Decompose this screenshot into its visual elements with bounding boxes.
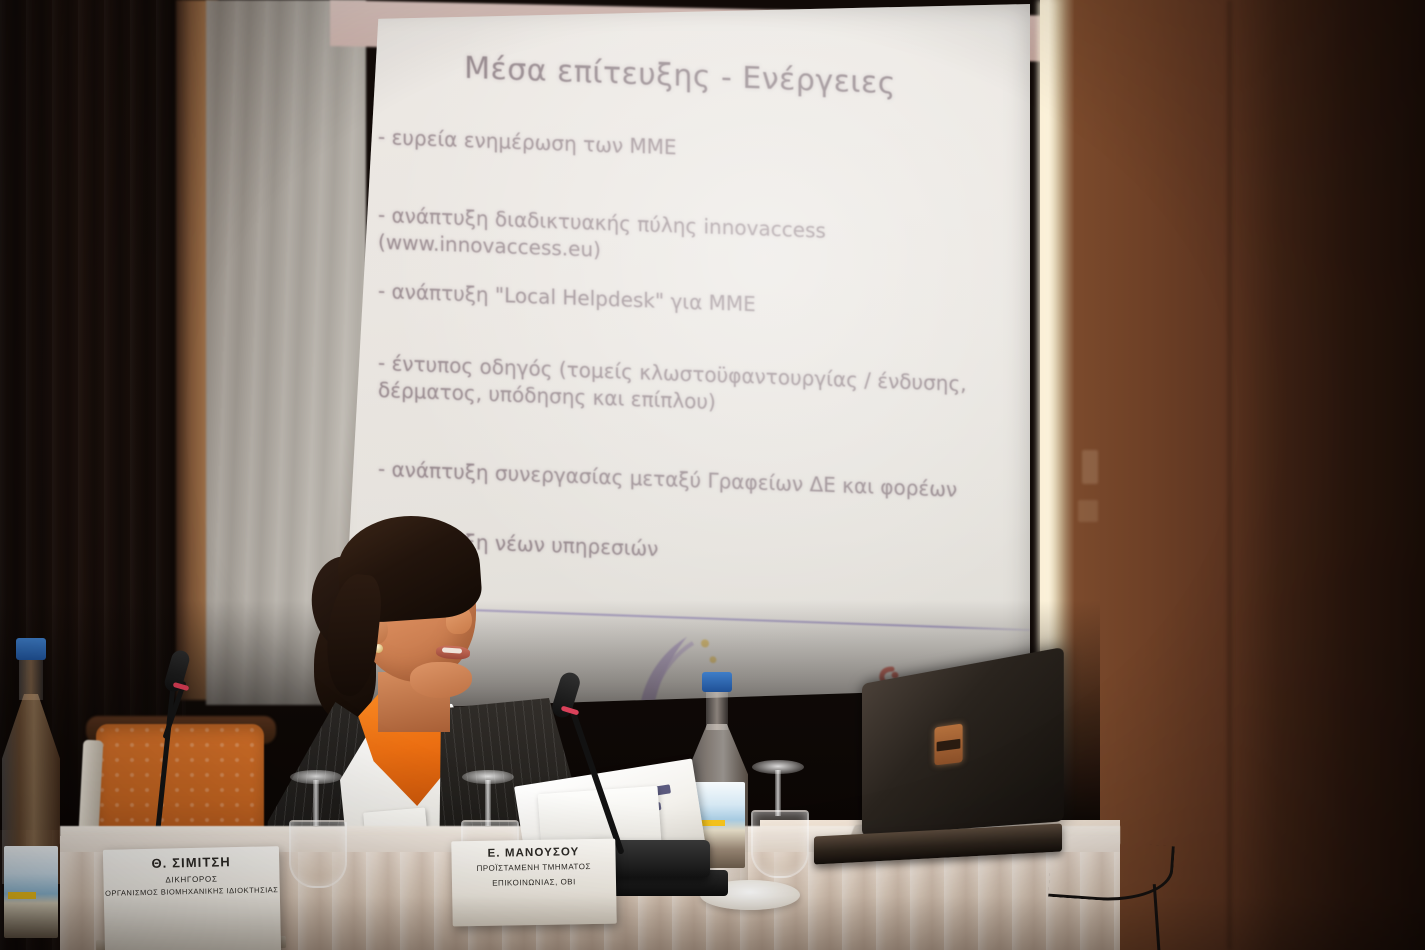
bottle-cap [16,638,46,660]
slide-bullet: - έντυπος οδηγός (τομείς κλωστοϋφαντουργ… [378,350,1004,426]
label-accent [8,892,36,899]
bottle-cap [702,672,732,692]
glass-stem [313,780,319,826]
placard-role: ΠΡΟΪΣΤΑΜΕΝΗ ΤΜΗΜΑΤΟΣ [476,862,591,875]
wall-panel-seam [1228,0,1231,950]
glass-bowl [289,820,347,888]
glass-foot [290,770,342,784]
wine-glass-third [745,756,807,876]
placard-role: ΔΙΚΗΓΟΡΟΣ [165,874,217,884]
conference-photo: Μέσα επίτευξης - Ενέργειες - ευρεία ενημ… [0,0,1425,950]
name-placard-manousou: Ε. ΜΑΝΟΥΣΟΥ ΠΡΟΪΣΤΑΜΕΝΗ ΤΜΗΜΑΤΟΣ ΕΠΙΚΟΙΝ… [451,839,616,927]
glass-stem [485,780,491,826]
wine-glass-inverted [283,766,349,886]
bottle-neck [19,658,43,700]
slide-bullet: - ανάπτυξη συνεργασίας μεταξύ Γραφείων Δ… [378,456,1004,505]
placard-org: ΕΠΙΚΟΙΝΩΝΙΑΣ, ΟΒΙ [492,877,576,889]
glass-foot [462,770,514,784]
mic-gooseneck [570,711,625,855]
slide-bullet: - ανάπτυξη διαδικτυακής πύλης innovacces… [378,202,1004,278]
water-bottle-left [2,638,60,938]
placard-org: ΟΡΓΑΝΙΣΜΟΣ ΒΙΟΜΗΧΑΝΙΚΗΣ ΙΔΙΟΚΤΗΣΙΑΣ [105,885,279,899]
glass-stem [775,770,781,816]
glass-foot [752,760,804,774]
bottle-label [4,846,58,938]
placard-name: Θ. ΣΙΜΙΤΣΗ [151,854,231,871]
glass-bowl [751,810,809,878]
laptop-logo-badge [934,723,962,765]
slide-title: Μέσα επίτευξης - Ενέργειες [330,46,1030,106]
slide-bullet: - ευρεία ενημέρωση των ΜΜΕ [378,124,1004,173]
wall-fixture-secondary [1078,500,1098,522]
laptop-computer [862,684,1062,864]
placard-name: Ε. ΜΑΝΟΥΣΟΥ [487,846,579,860]
chin [410,662,472,698]
bottle-neck [706,690,728,730]
name-placard-simitsi: Θ. ΣΙΜΙΤΣΗ ΔΙΚΗΓΟΡΟΣ ΟΡΓΑΝΙΣΜΟΣ ΒΙΟΜΗΧΑΝ… [103,846,281,950]
wall-fixture [1082,450,1098,484]
slide-bullet: - ανάπτυξη "Local Helpdesk" για ΜΜΕ [378,278,1004,327]
